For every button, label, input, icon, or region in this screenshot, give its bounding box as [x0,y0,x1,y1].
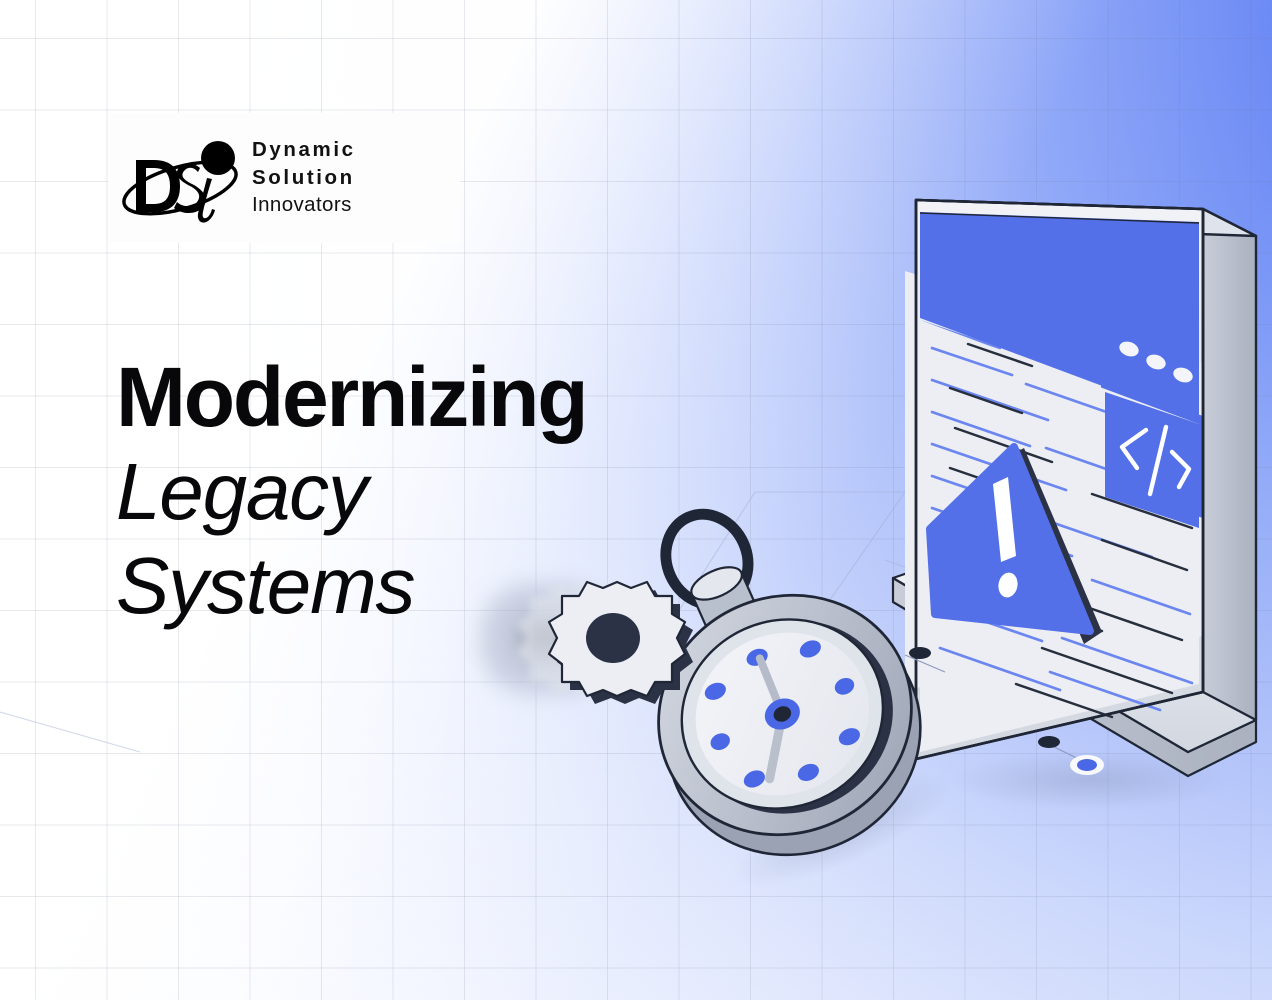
logo: Dynamic Solution Innovators [108,113,460,243]
logo-line-2: Solution [252,168,356,189]
poster-canvas: Dynamic Solution Innovators Modernizing … [0,0,1272,1000]
headline-line-2: Legacy [116,450,586,533]
headline-line-1: Modernizing [116,356,586,438]
logo-wordmark: Dynamic Solution Innovators [252,140,356,216]
logo-line-3: Innovators [252,195,356,216]
page-title: Modernizing Legacy Systems [116,356,586,627]
headline-line-3: Systems [116,544,586,627]
logo-monogram-icon [114,122,246,234]
logo-line-1: Dynamic [252,140,356,161]
